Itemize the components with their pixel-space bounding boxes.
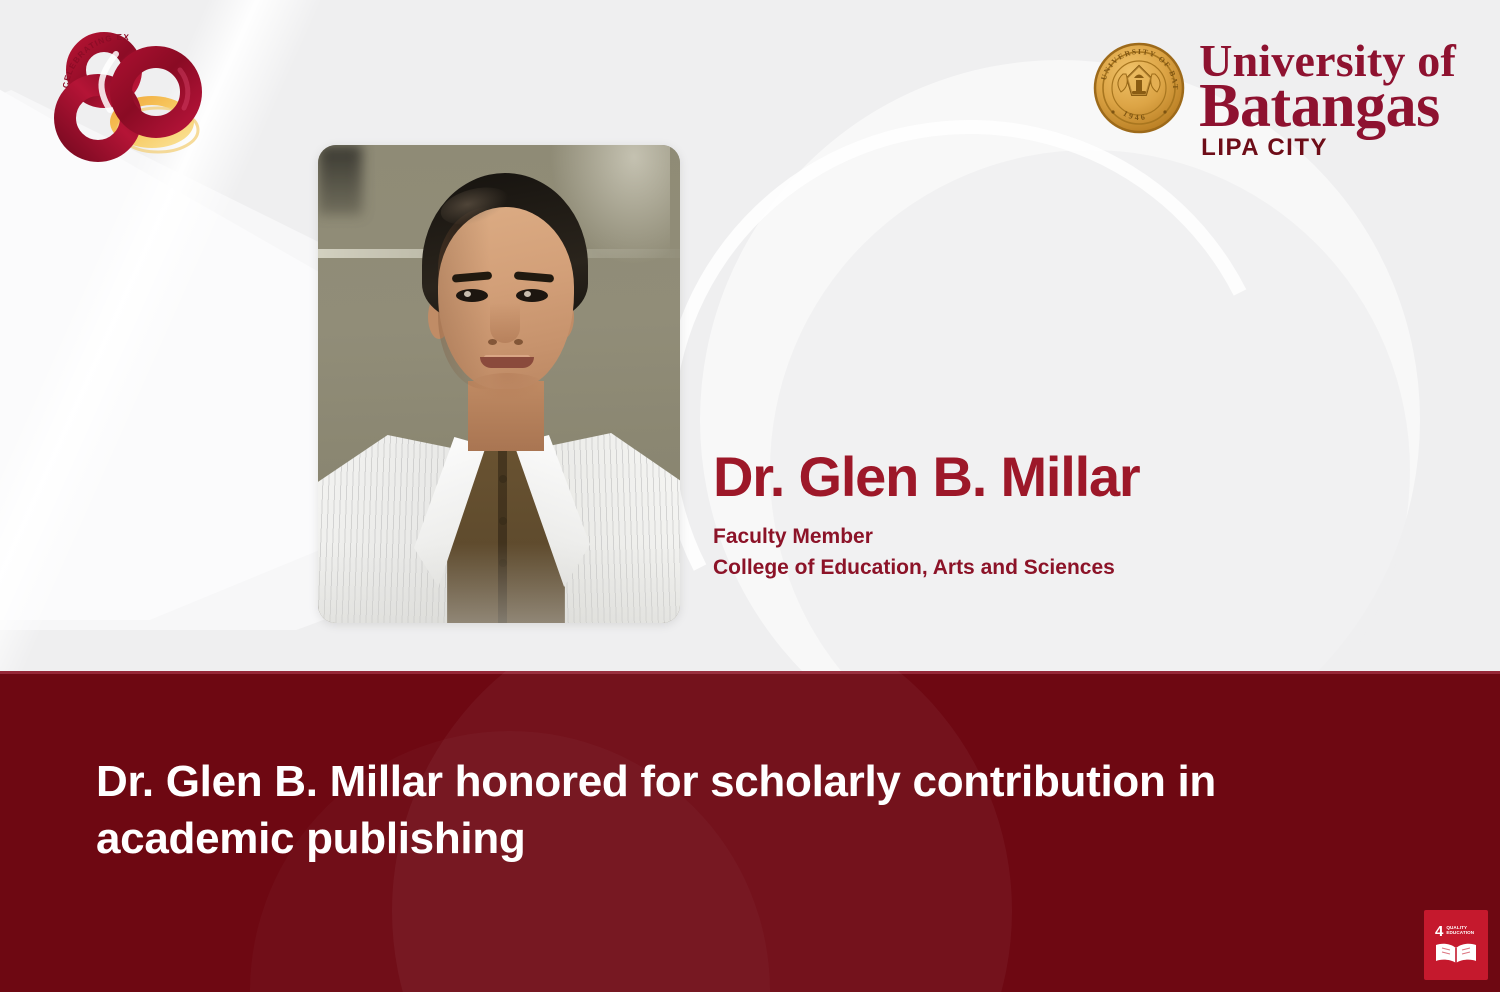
portrait-mouth [480,357,534,368]
portrait-eye-highlight-left [464,291,471,297]
portrait-chin [468,373,546,401]
honoree-role: Faculty Member [713,521,1353,552]
university-wordmark: University of Batangas LIPA CITY [1199,40,1456,159]
portrait-eye-left [456,289,488,302]
portrait-nostril-left [488,339,497,345]
sdg-icon-header: 4 QUALITY EDUCATION [1432,921,1480,939]
sdg-icon-inner: 4 QUALITY EDUCATION [1432,921,1480,969]
portrait-lower-shadow [318,543,680,623]
honoree-name: Dr. Glen B. Millar [713,448,1353,507]
open-book-icon [1432,941,1480,965]
wordmark-line-batangas: Batangas [1199,78,1456,135]
sdg-quality-education-icon: 4 QUALITY EDUCATION [1424,910,1488,980]
honoree-role-block: Faculty Member College of Education, Art… [713,521,1353,583]
portrait-shirt-button [499,475,507,483]
faculty-portrait-photo [318,145,680,623]
portrait-shirt-button [499,517,507,525]
portrait-nostril-right [514,339,523,345]
portrait-nose [490,303,520,343]
wordmark-line-campus: LIPA CITY [1201,137,1456,159]
honoree-details: Dr. Glen B. Millar Faculty Member Colleg… [713,448,1353,583]
university-logo-lockup: UNIVERSITY OF BATANGAS 1946 [1093,40,1456,159]
sdg-number: 4 [1435,924,1443,939]
anniversary-logo: CELEBRATING EXCELLENCE [52,26,212,166]
portrait-eye-right [516,289,548,302]
announcement-poster: CELEBRATING EXCELLENCE [0,0,1500,992]
university-seal-icon: UNIVERSITY OF BATANGAS 1946 [1093,40,1185,136]
portrait-background-shadow [318,145,362,215]
portrait-eye-highlight-right [524,291,531,297]
honoree-department: College of Education, Arts and Sciences [713,552,1353,583]
sdg-label: QUALITY EDUCATION [1446,924,1478,936]
headline-text: Dr. Glen B. Millar honored for scholarly… [96,753,1326,867]
headline-band: Dr. Glen B. Millar honored for scholarly… [0,671,1500,992]
